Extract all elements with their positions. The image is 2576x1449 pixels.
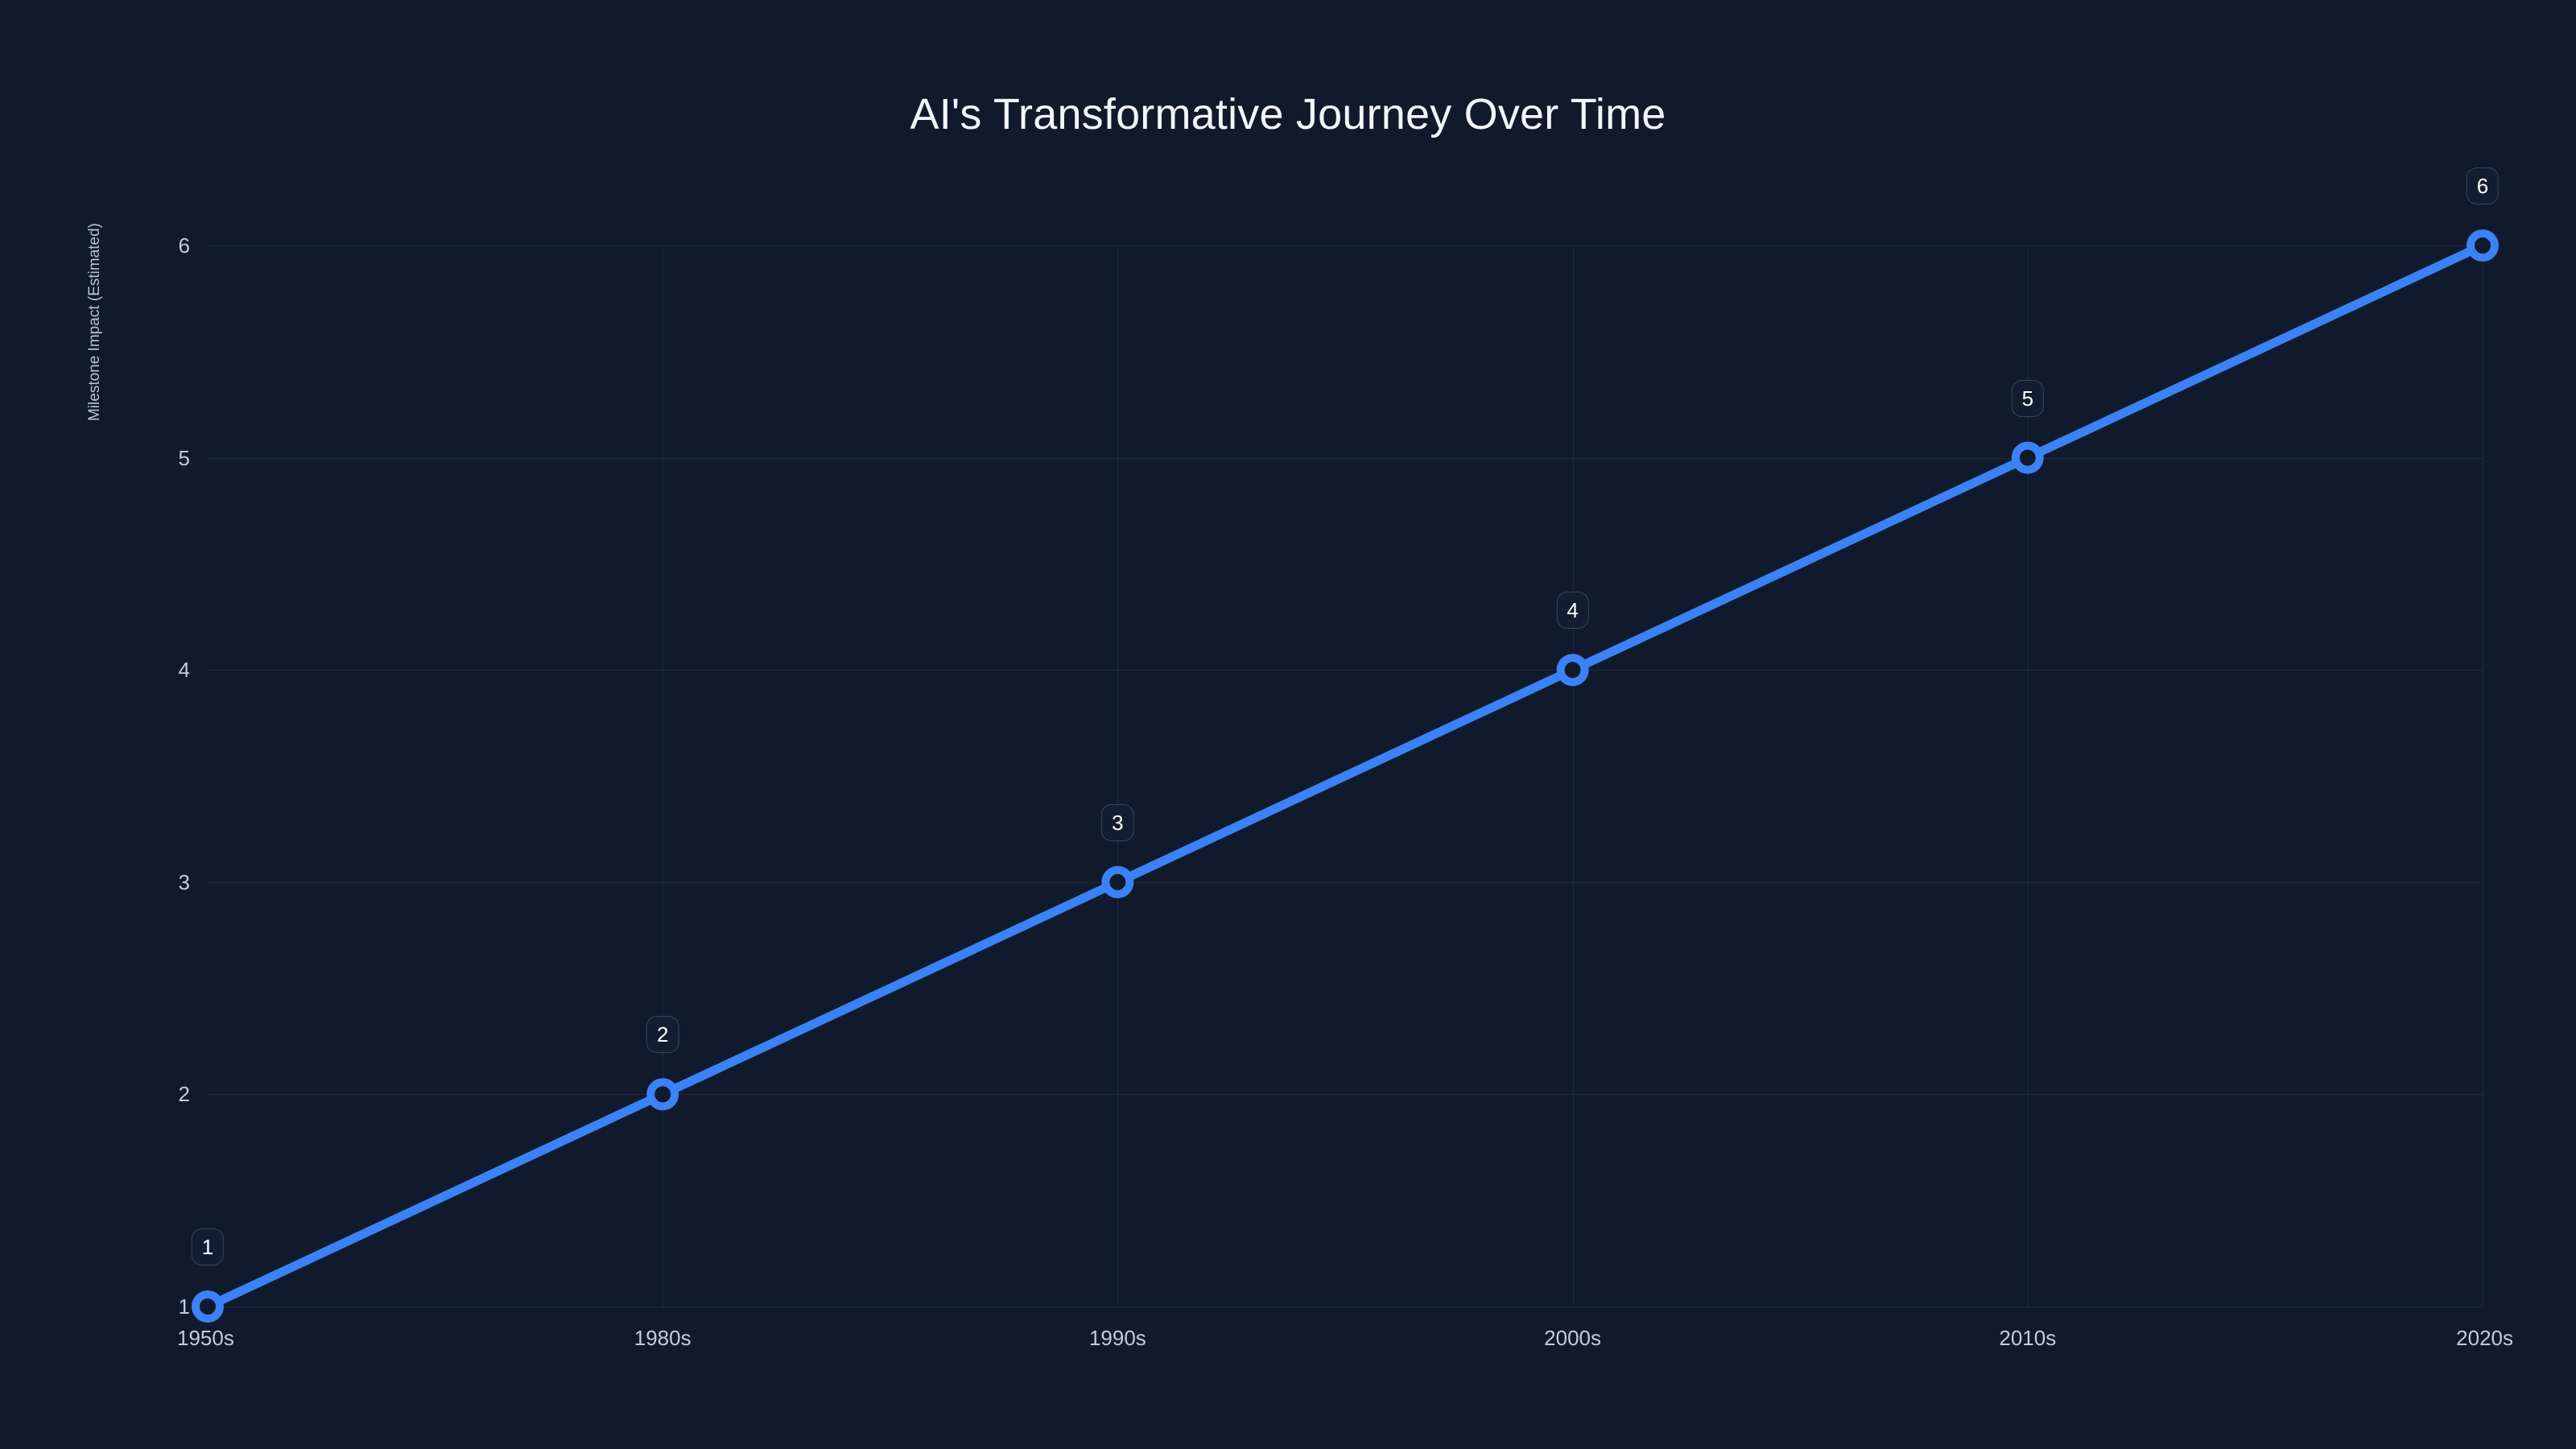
x-axis-tick-label: 1950s [177, 1327, 370, 1349]
data-point-marker[interactable] [650, 1082, 675, 1106]
data-point-value-badge: 6 [2467, 167, 2499, 204]
x-axis-tick-label: 1990s [1021, 1327, 1214, 1349]
series-line [208, 246, 2483, 1307]
data-point-marker[interactable] [2016, 446, 2040, 470]
data-point-marker[interactable] [1105, 870, 1129, 894]
chart-title: AI's Transformative Journey Over Time [0, 90, 2576, 138]
gridline-horizontal [208, 1307, 2483, 1307]
line-series-svg [208, 246, 2483, 1307]
plot-area [208, 246, 2483, 1307]
x-axis-tick-label: 2020s [2320, 1327, 2513, 1349]
data-point-marker[interactable] [196, 1294, 220, 1319]
y-axis-tick-label: 6 [134, 235, 190, 256]
data-point-value-badge: 3 [1101, 804, 1133, 841]
data-point-value-badge: 2 [646, 1016, 679, 1053]
data-point-value-badge: 5 [2012, 380, 2044, 417]
y-axis-tick-label: 4 [134, 659, 190, 680]
data-point-value-badge: 4 [1556, 592, 1588, 629]
y-axis-title: Milestone Impact (Estimated) [86, 97, 104, 547]
x-axis-tick-label: 1980s [566, 1327, 759, 1349]
y-axis-tick-label: 2 [134, 1084, 190, 1104]
y-axis-tick-label: 3 [134, 872, 190, 893]
y-axis-tick-label: 1 [134, 1296, 190, 1317]
data-point-value-badge: 1 [192, 1228, 224, 1265]
x-axis-tick-label: 2010s [1931, 1327, 2124, 1349]
data-point-marker[interactable] [2471, 233, 2495, 258]
gridline-vertical [2483, 246, 2483, 1307]
chart-canvas: AI's Transformative Journey Over Time Mi… [0, 0, 2576, 1449]
data-point-marker[interactable] [1561, 658, 1585, 682]
x-axis-tick-label: 2000s [1476, 1327, 1670, 1349]
y-axis-tick-label: 5 [134, 448, 190, 469]
